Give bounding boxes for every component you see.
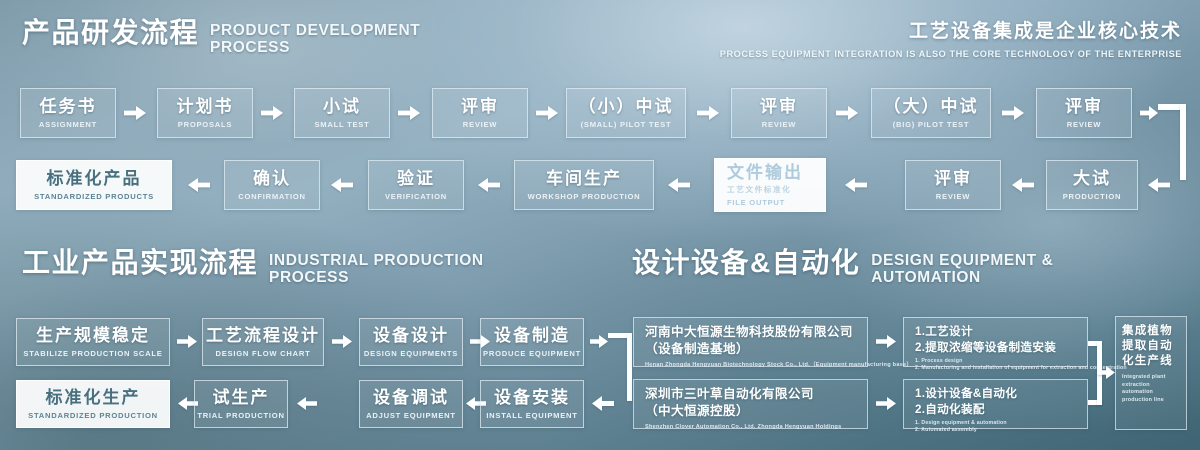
page-title-cn: 产品研发流程 xyxy=(22,18,199,48)
flow-box-design-equipments[interactable]: 设备设计 DESIGN EQUIPMENTS xyxy=(359,318,463,366)
task-item-2: 2.提取浓缩等设备制造安装 xyxy=(915,340,1078,356)
flow-box-label-en: ADJUST EQUIPMENT xyxy=(366,410,456,421)
company-name-line2: （设备制造基地） xyxy=(645,341,858,358)
flow-box-label-en: TRIAL PRODUCTION xyxy=(197,410,284,421)
task-item-2-en: 2. Manufacturing and installation of equ… xyxy=(915,365,1078,372)
flow-box-label-en: WORKSHOP PRODUCTION xyxy=(528,191,641,202)
company-box-shenzhen-clover[interactable]: 深圳市三叶草自动化有限公司 （中大恒源控股） Shenzhen Clover A… xyxy=(633,379,868,429)
task-item-1-en: 1. Design equipment & automation xyxy=(915,420,1078,427)
arrow-right-icon xyxy=(876,397,896,410)
flow-box-produce-equipment[interactable]: 设备制造 PRODUCE EQUIPMENT xyxy=(480,318,584,366)
flow-box-assignment[interactable]: 任务书 ASSIGNMENT xyxy=(20,88,116,138)
company-name-line1: 深圳市三叶草自动化有限公司 xyxy=(645,386,858,403)
flow-box-verification[interactable]: 验证 VERIFICATION xyxy=(368,160,464,210)
arrow-right-icon xyxy=(536,106,558,120)
section-title-design-cn: 设计设备&自动化 xyxy=(632,248,860,278)
company-name-line2: （中大恒源控股） xyxy=(645,403,858,420)
flow-box-label-cn: 小试 xyxy=(323,96,361,117)
flow-box-label-cn: 评审 xyxy=(461,96,499,117)
arrow-right-icon xyxy=(590,335,608,348)
flow-box-label-cn: 大试 xyxy=(1073,168,1111,189)
arrow-right-icon xyxy=(1002,106,1024,120)
task-item-1: 1.设计设备&自动化 xyxy=(915,386,1078,402)
flow-box-label-en: VERIFICATION xyxy=(385,191,447,202)
flow-box-label-en: DESIGN FLOW CHART xyxy=(215,348,310,359)
flow-box-label-cn: 设备制造 xyxy=(494,325,570,346)
flow-box-label-cn: （小）中试 xyxy=(579,96,674,117)
task-box-design-automation[interactable]: 1.设计设备&自动化 2.自动化装配 1. Design equipment &… xyxy=(903,379,1088,429)
flow-box-review-3[interactable]: 评审 REVIEW xyxy=(1036,88,1132,138)
arrow-right-icon xyxy=(836,106,858,120)
arrow-right-icon xyxy=(1097,366,1115,379)
tagline-cn: 工艺设备集成是企业核心技术 xyxy=(720,16,1182,43)
flow-box-label-cn: 设备安装 xyxy=(494,387,570,408)
flow-box-label-cn: 计划书 xyxy=(177,96,234,117)
flow-box-label-en: (SMALL) PILOT TEST xyxy=(581,119,672,130)
arrow-right-icon xyxy=(398,106,420,120)
flow-box-adjust-equipment[interactable]: 设备调试 ADJUST EQUIPMENT xyxy=(359,380,463,428)
flow-box-review-2[interactable]: 评审 REVIEW xyxy=(731,88,827,138)
flow-box-label-en: ASSIGNMENT xyxy=(39,119,97,130)
result-box-integrated-line[interactable]: 集成植物提取自动化生产线 Integrated plant extraction… xyxy=(1115,316,1187,430)
arrow-right-icon xyxy=(697,106,719,120)
flow-box-review-1[interactable]: 评审 REVIEW xyxy=(432,88,528,138)
tagline-en: PROCESS EQUIPMENT INTEGRATION IS ALSO TH… xyxy=(720,49,1182,59)
page-title-en: PRODUCT DEVELOPMENT PROCESS xyxy=(210,18,460,56)
flow-box-label-en: PRODUCTION xyxy=(1063,191,1122,202)
flow-box-design-flow-chart[interactable]: 工艺流程设计 DESIGN FLOW CHART xyxy=(202,318,324,366)
section-title-industrial-en: INDUSTRIAL PRODUCTION PROCESS xyxy=(269,248,519,286)
task-item-1-en: 1. Process design xyxy=(915,358,1078,365)
tagline: 工艺设备集成是企业核心技术 PROCESS EQUIPMENT INTEGRAT… xyxy=(720,16,1182,59)
flow-box-label-cn: 车间生产 xyxy=(546,168,622,189)
flow-box-label-cn: 工艺流程设计 xyxy=(206,325,320,346)
flow-box-production[interactable]: 大试 PRODUCTION xyxy=(1046,160,1138,210)
flow-box-label-en: (BIG) PILOT TEST xyxy=(893,119,970,130)
flow-box-label-cn: 设备设计 xyxy=(373,325,449,346)
result-label-cn: 集成植物提取自动化生产线 xyxy=(1122,324,1181,369)
flow-box-label-en: INSTALL EQUIPMENT xyxy=(486,410,577,421)
flow-box-label-en: STANDARDIZED PRODUCTION xyxy=(28,410,158,421)
flow-box-label-cn: 验证 xyxy=(397,168,435,189)
flow-box-sublabel-cn: 工艺文件标准化 xyxy=(727,185,791,195)
flow-box-label-cn: 试生产 xyxy=(213,387,270,408)
arrow-right-icon xyxy=(261,106,283,120)
flow-box-label-cn: 评审 xyxy=(934,168,972,189)
flow-box-label-cn: 评审 xyxy=(1065,96,1103,117)
flow-box-workshop-production[interactable]: 车间生产 WORKSHOP PRODUCTION xyxy=(514,160,654,210)
flow-box-stabilize-production-scale[interactable]: 生产规模稳定 STABILIZE PRODUCTION SCALE xyxy=(16,318,170,366)
arrow-right-icon xyxy=(177,335,197,348)
flow-box-standardized-production[interactable]: 标准化生产 STANDARDIZED PRODUCTION xyxy=(16,380,170,428)
flow-box-review-4[interactable]: 评审 REVIEW xyxy=(905,160,1001,210)
arrow-right-icon xyxy=(1140,106,1158,120)
flow-box-label-en: SMALL TEST xyxy=(314,119,369,130)
result-label-en: Integrated plant extraction automation p… xyxy=(1122,374,1181,404)
arrow-left-icon xyxy=(845,178,867,192)
flow-box-label-en: REVIEW xyxy=(936,191,970,202)
company-name-line1: 河南中大恒源生物科技股份有限公司 xyxy=(645,324,858,341)
section-title-design: 设计设备&自动化 DESIGN EQUIPMENT & AUTOMATION xyxy=(632,248,1121,286)
flow-box-label-en: STABILIZE PRODUCTION SCALE xyxy=(23,348,162,359)
arrow-left-icon xyxy=(1148,178,1170,192)
arrow-left-icon xyxy=(188,178,210,192)
infographic-canvas: 产品研发流程 PRODUCT DEVELOPMENT PROCESS 工艺设备集… xyxy=(0,0,1200,450)
elbow-connector-top-right xyxy=(1158,104,1188,184)
flow-box-trial-production[interactable]: 试生产 TRIAL PRODUCTION xyxy=(194,380,288,428)
section-title-industrial: 工业产品实现流程 INDUSTRIAL PRODUCTION PROCESS xyxy=(22,248,519,286)
flow-box-label-cn: 确认 xyxy=(253,168,291,189)
flow-box-label-cn: 文件输出 xyxy=(727,162,803,183)
flow-box-small-pilot-test[interactable]: （小）中试 (SMALL) PILOT TEST xyxy=(566,88,686,138)
arrow-left-icon xyxy=(592,396,614,411)
arrow-right-icon xyxy=(876,335,896,348)
flow-box-label-cn: 任务书 xyxy=(40,96,97,117)
task-item-1: 1.工艺设计 xyxy=(915,324,1078,340)
arrow-left-icon xyxy=(297,397,317,410)
flow-box-label-cn: 生产规模稳定 xyxy=(36,325,150,346)
arrow-left-icon xyxy=(331,178,353,192)
section-title-design-en: DESIGN EQUIPMENT & AUTOMATION xyxy=(871,248,1121,286)
flow-box-label-en: PRODUCE EQUIPMENT xyxy=(483,348,581,359)
page-title: 产品研发流程 PRODUCT DEVELOPMENT PROCESS xyxy=(22,18,460,56)
arrow-right-icon xyxy=(332,335,352,348)
flow-box-file-output[interactable]: 文件输出 工艺文件标准化 FILE OUTPUT xyxy=(714,158,826,212)
flow-box-label-cn: （大）中试 xyxy=(884,96,979,117)
company-name-en: Shenzhen Clover Automation Co., Ltd. Zho… xyxy=(645,423,858,431)
task-item-2: 2.自动化装配 xyxy=(915,402,1078,418)
flow-box-install-equipment[interactable]: 设备安装 INSTALL EQUIPMENT xyxy=(480,380,584,428)
task-box-process-design[interactable]: 1.工艺设计 2.提取浓缩等设备制造安装 1. Process design 2… xyxy=(903,317,1088,367)
section-title-industrial-cn: 工业产品实现流程 xyxy=(22,248,258,278)
arrow-right-icon xyxy=(124,106,146,120)
elbow-connector-bottom-left xyxy=(608,333,634,405)
flow-box-label-cn: 标准化生产 xyxy=(46,387,141,408)
flow-box-confirmation[interactable]: 确认 CONFIRMATION xyxy=(224,160,320,210)
flow-box-label-cn: 评审 xyxy=(760,96,798,117)
flow-box-label-en: PROPOSALS xyxy=(178,119,232,130)
flow-box-label-en: STANDARDIZED PRODUCTS xyxy=(34,191,154,202)
flow-box-label-en: REVIEW xyxy=(463,119,497,130)
arrow-left-icon xyxy=(668,178,690,192)
flow-box-proposals[interactable]: 计划书 PROPOSALS xyxy=(157,88,253,138)
flow-box-small-test[interactable]: 小试 SMALL TEST xyxy=(294,88,390,138)
arrow-left-icon xyxy=(478,178,500,192)
flow-box-label-cn: 设备调试 xyxy=(373,387,449,408)
flow-box-label-en: REVIEW xyxy=(762,119,796,130)
flow-box-standardized-products[interactable]: 标准化产品 STANDARDIZED PRODUCTS xyxy=(16,160,172,210)
company-box-henan-zhongda[interactable]: 河南中大恒源生物科技股份有限公司 （设备制造基地） Henan Zhongda … xyxy=(633,317,868,367)
company-name-en: Henan Zhongda Hengyuan Biotechnology Sto… xyxy=(645,361,858,369)
flow-box-label-cn: 标准化产品 xyxy=(47,168,142,189)
task-item-2-en: 2. Automated assembly xyxy=(915,427,1078,434)
flow-box-label-en: CONFIRMATION xyxy=(238,191,306,202)
flow-box-big-pilot-test[interactable]: （大）中试 (BIG) PILOT TEST xyxy=(871,88,991,138)
flow-box-label-en: REVIEW xyxy=(1067,119,1101,130)
flow-box-label-en: DESIGN EQUIPMENTS xyxy=(364,348,458,359)
flow-box-label-en: FILE OUTPUT xyxy=(727,197,785,208)
arrow-left-icon xyxy=(1012,178,1034,192)
